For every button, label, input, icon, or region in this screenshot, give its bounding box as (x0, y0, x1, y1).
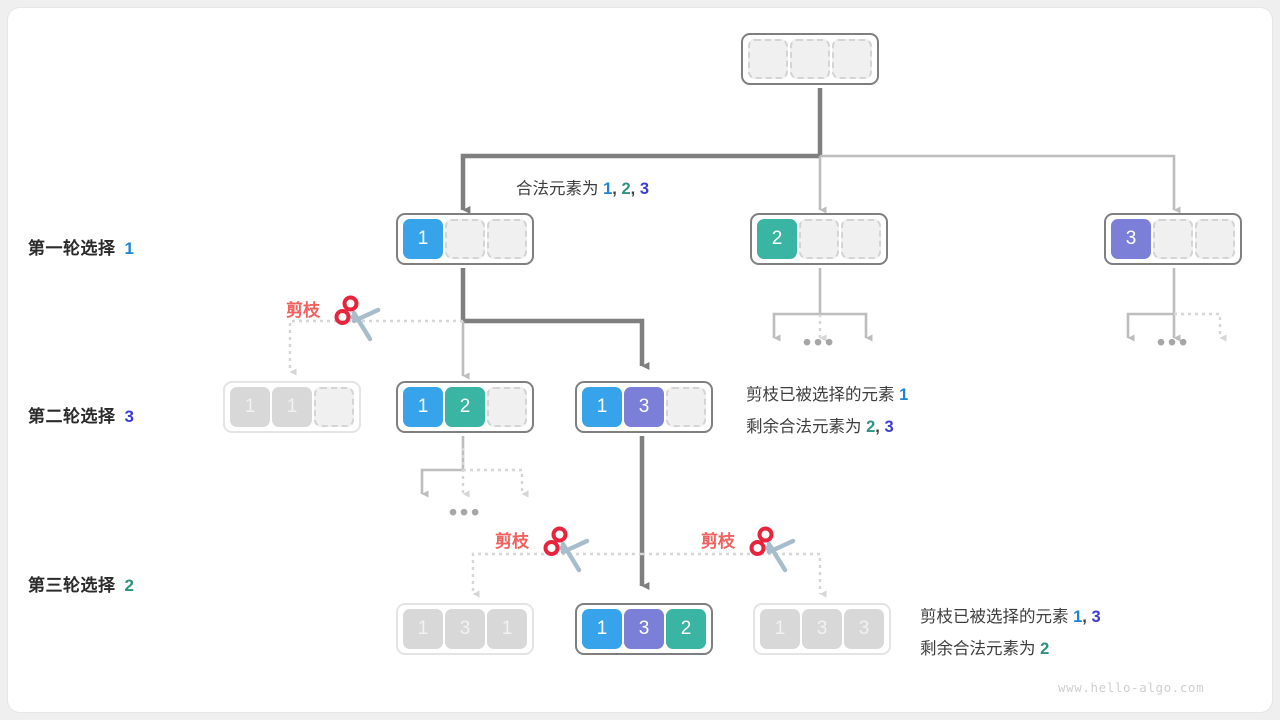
node-level1-choice-2: 2 (750, 213, 888, 265)
row-label-round-1: 第一轮选择1 (28, 234, 134, 259)
annotation-prefix: 剩余合法元素为 (746, 418, 862, 436)
array-cell: 3 (1111, 219, 1151, 259)
array-cell: 2 (666, 609, 706, 649)
array-cell (666, 387, 706, 427)
row-label-text: 第一轮选择 (28, 239, 116, 258)
array-cell: 1 (760, 609, 800, 649)
array-cell (445, 219, 485, 259)
array-cell: 1 (403, 609, 443, 649)
array-cell: 1 (403, 219, 443, 259)
array-cell: 3 (802, 609, 842, 649)
node-level2-1-2: 1 2 (396, 381, 534, 433)
array-cell (487, 387, 527, 427)
annotation-prefix: 剪枝已被选择的元素 (920, 608, 1069, 626)
node-level2-1-3: 1 3 (575, 381, 713, 433)
array-cell (790, 39, 830, 79)
node-level3-valid-1-3-2: 1 3 2 (575, 603, 713, 655)
watermark: www.hello-algo.com (1058, 680, 1204, 695)
array-cell: 3 (844, 609, 884, 649)
array-cell (832, 39, 872, 79)
scissors-icon-3 (749, 526, 799, 574)
scissors-icon-2 (543, 526, 593, 574)
node-level3-pruned-1-3-3: 1 3 3 (753, 603, 891, 655)
annotation-value: 3 (884, 418, 893, 436)
annotation-level3-line2: 剩余合法元素为 2 (920, 635, 1049, 659)
array-cell: 1 (230, 387, 270, 427)
array-cell (799, 219, 839, 259)
array-cell: 1 (403, 387, 443, 427)
array-cell (314, 387, 354, 427)
array-cell (1153, 219, 1193, 259)
array-cell: 2 (757, 219, 797, 259)
prune-label-2: 剪枝 (495, 527, 529, 552)
annotation-prefix: 剩余合法元素为 (920, 640, 1036, 658)
annotation-value: 1 (603, 180, 612, 198)
array-cell: 1 (272, 387, 312, 427)
array-cell: 1 (582, 609, 622, 649)
annotation-level2-line1: 剪枝已被选择的元素 1 (746, 381, 908, 405)
ellipsis-below-node-3: ••• (1157, 331, 1190, 354)
array-cell: 2 (445, 387, 485, 427)
row-label-value: 1 (125, 239, 135, 258)
annotation-value: 3 (640, 180, 649, 198)
scissors-icon-1 (334, 295, 384, 343)
array-cell: 3 (624, 609, 664, 649)
array-cell: 3 (624, 387, 664, 427)
row-label-value: 2 (125, 576, 135, 595)
array-cell (841, 219, 881, 259)
annotation-prefix: 剪枝已被选择的元素 (746, 386, 895, 404)
annotation-prefix: 合法元素为 (516, 180, 599, 198)
ellipsis-below-node-2: ••• (803, 331, 836, 354)
annotation-value: 2 (866, 418, 875, 436)
annotation-value: 2 (1040, 640, 1049, 658)
row-label-round-2: 第二轮选择3 (28, 402, 134, 427)
prune-label-1: 剪枝 (286, 296, 320, 321)
row-label-text: 第二轮选择 (28, 407, 116, 426)
node-level2-pruned-1-1: 1 1 (223, 381, 361, 433)
row-label-value: 3 (125, 407, 135, 426)
prune-label-3: 剪枝 (701, 527, 735, 552)
annotation-value: 1 (1073, 608, 1082, 626)
array-cell (487, 219, 527, 259)
row-label-text: 第三轮选择 (28, 576, 116, 595)
annotation-value: 1 (899, 386, 908, 404)
annotation-level2-line2: 剩余合法元素为 2, 3 (746, 413, 894, 437)
diagram-canvas: 第一轮选择1 第二轮选择3 第三轮选择2 1 2 3 1 1 1 2 1 (8, 8, 1272, 712)
array-cell (1195, 219, 1235, 259)
annotation-value: 3 (1091, 608, 1100, 626)
array-cell: 3 (445, 609, 485, 649)
node-level1-choice-3: 3 (1104, 213, 1242, 265)
array-cell: 1 (582, 387, 622, 427)
annotation-value: 2 (621, 180, 630, 198)
array-cell: 1 (487, 609, 527, 649)
node-root (741, 33, 879, 85)
node-level1-choice-1: 1 (396, 213, 534, 265)
node-level3-pruned-1-3-1: 1 3 1 (396, 603, 534, 655)
ellipsis-below-node-1-2: ••• (449, 501, 482, 524)
row-label-round-3: 第三轮选择2 (28, 571, 134, 596)
array-cell (748, 39, 788, 79)
annotation-level3-line1: 剪枝已被选择的元素 1, 3 (920, 603, 1101, 627)
annotation-legal-elements: 合法元素为 1, 2, 3 (516, 175, 649, 199)
